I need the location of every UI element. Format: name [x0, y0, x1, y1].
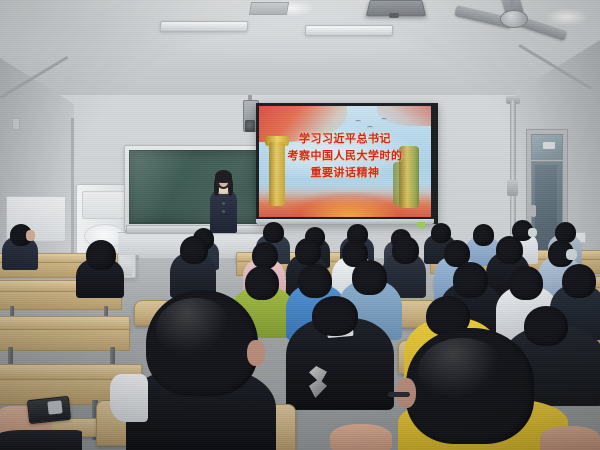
presenter-hair: [215, 170, 232, 183]
slide-gold-glow-bottom: [289, 192, 409, 217]
student-head: [298, 264, 332, 298]
student-head: [245, 266, 279, 300]
student-head: [562, 264, 596, 298]
projector-lens-icon: [389, 13, 399, 18]
student-head: [352, 260, 387, 295]
student-face: [26, 230, 35, 241]
student-head: [453, 262, 488, 298]
student-head: [263, 222, 284, 243]
face-mask: [566, 249, 577, 260]
screen-roller-motor: [245, 120, 255, 132]
student-head: [509, 266, 543, 300]
foreground-student-collar: [110, 374, 148, 422]
slide-title-line-2: 考察中国人民大学时的: [259, 147, 431, 164]
screen-bottom-bar: [256, 219, 434, 224]
classroom-photo: 学习习近平总书记 考察中国人民大学时的 重要讲话精神: [0, 0, 600, 450]
room-number-plate: [543, 142, 555, 149]
ceiling-fan: [455, 0, 565, 46]
fluorescent-light-panel: [305, 25, 393, 36]
student-head: [180, 236, 208, 264]
fluorescent-light-panel: [160, 21, 249, 32]
air-conditioner-grille: [82, 191, 128, 219]
slide-title-line-3: 重要讲话精神: [259, 164, 431, 181]
student-head: [295, 238, 321, 265]
student-head: [431, 223, 451, 243]
ceiling-vent: [249, 2, 289, 15]
student-head: [473, 224, 494, 246]
hair-highlight: [156, 298, 234, 360]
student-head: [496, 236, 523, 264]
coat-button: [222, 202, 225, 205]
foreground-student-ear: [247, 340, 265, 366]
screen-pull-tab[interactable]: [417, 222, 425, 228]
student-hands: [540, 426, 600, 450]
slide-bird-icon: [355, 120, 361, 124]
student-head: [392, 236, 419, 264]
student-head: [524, 306, 568, 346]
projection-screen: 学习习近平总书记 考察中国人民大学时的 重要讲话精神: [259, 106, 431, 217]
slide-title-block: 学习习近平总书记 考察中国人民大学时的 重要讲话精神: [259, 130, 431, 181]
pipe-junction-box: [507, 180, 518, 196]
coat-button: [222, 210, 225, 213]
fan-hub: [500, 10, 528, 28]
slide-bird-icon: [381, 118, 387, 122]
eyeglasses-temple-icon: [388, 392, 410, 397]
door-handle[interactable]: [531, 205, 536, 217]
face-mask: [528, 228, 537, 237]
slide-red-ribbon-top-right: [377, 106, 431, 126]
foreground-student-body: [0, 430, 82, 450]
slide-title-line-1: 学习习近平总书记: [259, 130, 431, 147]
hair-highlight: [418, 338, 506, 404]
light-switch[interactable]: [12, 118, 20, 130]
wall-seam: [71, 118, 74, 268]
student-head: [252, 242, 278, 269]
student-head: [86, 240, 116, 270]
phone-screen: [47, 400, 62, 414]
student-hands: [330, 424, 392, 450]
blackboard-glare: [129, 150, 265, 222]
student-head: [312, 296, 358, 336]
